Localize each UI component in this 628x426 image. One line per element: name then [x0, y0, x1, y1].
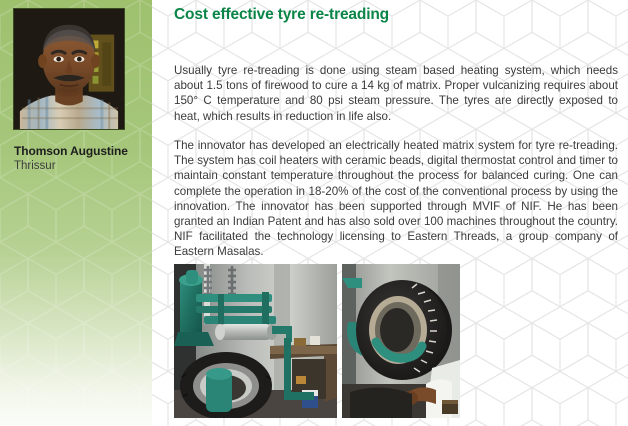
tyre-photo-artwork	[342, 264, 460, 418]
article-photo-strip	[174, 264, 460, 418]
article-paragraph-2: The innovator has developed an electrica…	[174, 138, 618, 260]
article-title: Cost effective tyre re-treading	[174, 6, 389, 24]
article-content: Cost effective tyre re-treading Usually …	[174, 0, 620, 426]
article-paragraph-1: Usually tyre re-treading is done using s…	[174, 63, 618, 124]
innovator-sidebar: Thomson Augustine Thrissur	[0, 0, 152, 426]
retreaded-tyre-with-worker-photo	[342, 264, 460, 418]
innovator-location: Thrissur	[14, 160, 149, 172]
tyre-retreading-machine-photo	[174, 264, 337, 418]
innovator-name: Thomson Augustine	[14, 144, 149, 158]
portrait-artwork	[14, 9, 124, 129]
machine-photo-artwork	[174, 264, 337, 418]
page-root: Thomson Augustine Thrissur Cost effectiv…	[0, 0, 628, 426]
innovator-portrait-photo	[13, 8, 125, 130]
